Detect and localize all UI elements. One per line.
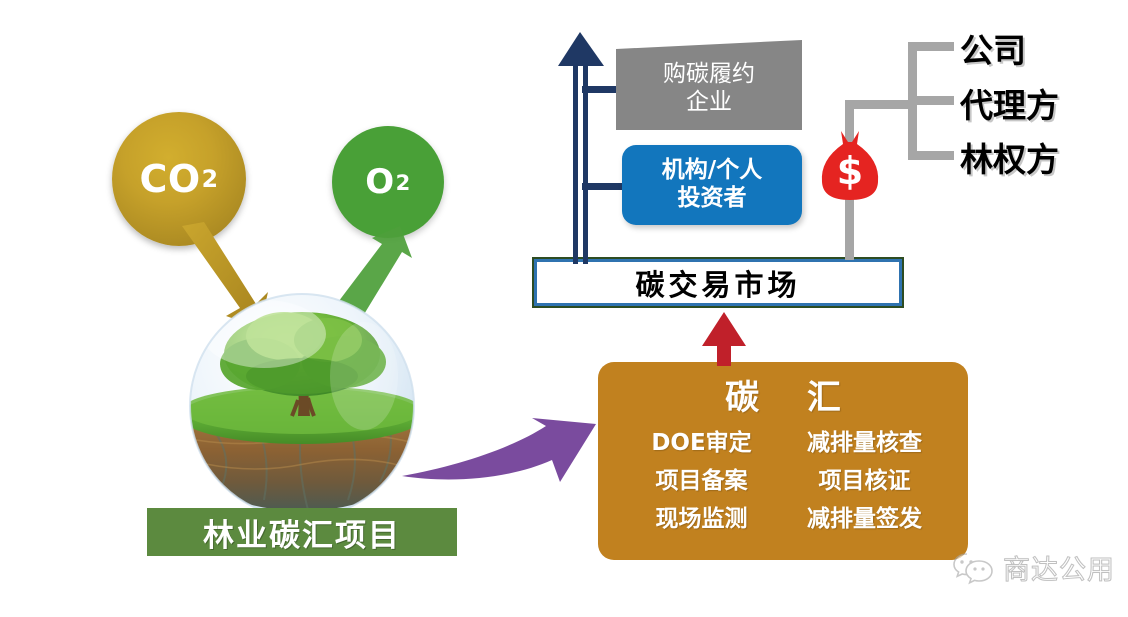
wechat-icon — [952, 551, 994, 585]
gray-connector-horizontal — [845, 100, 917, 109]
o2-subscript: 2 — [396, 170, 411, 195]
purple-flow-arrow-icon — [400, 398, 605, 503]
carbon-sink-item: 减排量核查 — [783, 423, 946, 457]
gray-bracket-branch-agent — [908, 96, 954, 105]
carbon-sink-panel: 碳 汇 DOE审定 减排量核查 项目备案 项目核证 现场监测 减排量签发 — [598, 362, 968, 560]
beneficiary-label-agent: 代理方 — [960, 79, 1059, 127]
gray-bracket-branch-forest-owner — [908, 151, 954, 160]
investor-label-line2: 投资者 — [678, 185, 747, 213]
compliance-buyer-box: 购碳履约 企业 — [616, 40, 802, 130]
compliance-buyer-label-line2: 企业 — [686, 88, 732, 116]
beneficiary-label-company: 公司 — [960, 24, 1026, 72]
money-bag-dollar-symbol: $ — [837, 149, 863, 193]
carbon-sink-item: DOE审定 — [620, 423, 783, 457]
beneficiary-label-forest-owner: 林权方 — [960, 133, 1059, 181]
navy-double-line-arrow-icon — [556, 32, 606, 264]
carbon-trading-market-box: 碳交易市场 — [534, 259, 902, 306]
red-flow-arrow-icon — [700, 312, 748, 366]
carbon-sink-item: 项目核证 — [783, 461, 946, 495]
o2-label: O — [365, 162, 394, 202]
co2-label: CO — [139, 157, 200, 201]
co2-subscript: 2 — [202, 165, 219, 193]
carbon-sink-item: 现场监测 — [620, 499, 783, 533]
money-bag-icon: $ — [818, 128, 882, 206]
watermark: 商达公用 — [952, 548, 1115, 587]
carbon-sink-title: 碳 汇 — [598, 370, 968, 419]
gray-bracket-branch-company — [908, 42, 954, 51]
carbon-trading-market-label: 碳交易市场 — [635, 262, 800, 304]
diagram-canvas: CO2 O2 — [0, 0, 1128, 617]
compliance-buyer-label-line1: 购碳履约 — [663, 60, 755, 88]
investor-label-line1: 机构/个人 — [662, 157, 762, 185]
carbon-sink-item: 项目备案 — [620, 461, 783, 495]
carbon-sink-item: 减排量签发 — [783, 499, 946, 533]
watermark-text: 商达公用 — [1003, 548, 1115, 587]
investor-box: 机构/个人 投资者 — [622, 145, 802, 225]
carbon-sink-item-grid: DOE审定 减排量核查 项目备案 项目核证 现场监测 减排量签发 — [598, 423, 968, 533]
forestry-carbon-sink-project-label: 林业碳汇项目 — [147, 508, 457, 556]
